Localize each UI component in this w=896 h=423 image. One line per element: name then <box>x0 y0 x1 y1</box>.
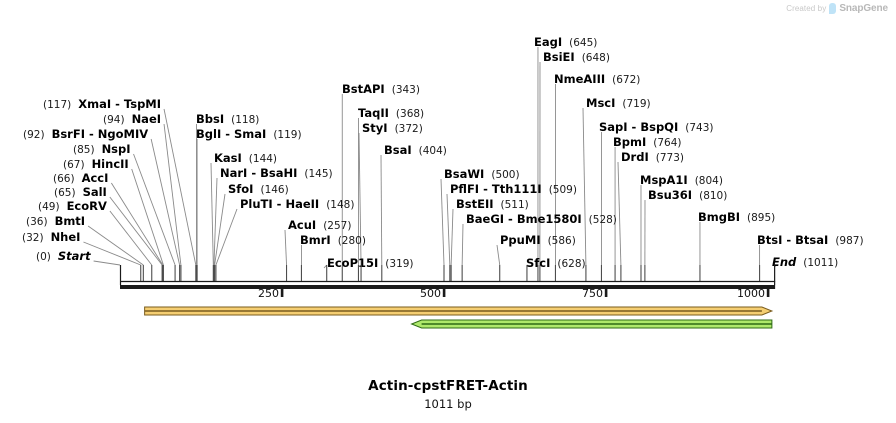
ruler-tick <box>767 289 770 297</box>
snapgene-restriction-map: Created by SnapGene (0) Start(32) NheI(3… <box>0 0 896 423</box>
ruler-tick <box>443 289 446 297</box>
ruler-tick-label: 750 <box>582 287 603 300</box>
ruler-tick <box>281 289 284 297</box>
sequence-length: 1011 bp <box>0 397 896 411</box>
backbone-bar[interactable] <box>120 285 775 289</box>
page-title: Actin-cpstFRET-Actin <box>0 378 896 394</box>
ruler-tick-label: 500 <box>420 287 441 300</box>
ruler-tick-label: 1000 <box>737 287 765 300</box>
ruler-tick-label: 250 <box>258 287 279 300</box>
sequence-backbone-and-features <box>0 0 896 423</box>
ruler-tick <box>605 289 608 297</box>
map-title-block: Actin-cpstFRET-Actin 1011 bp <box>0 378 896 411</box>
